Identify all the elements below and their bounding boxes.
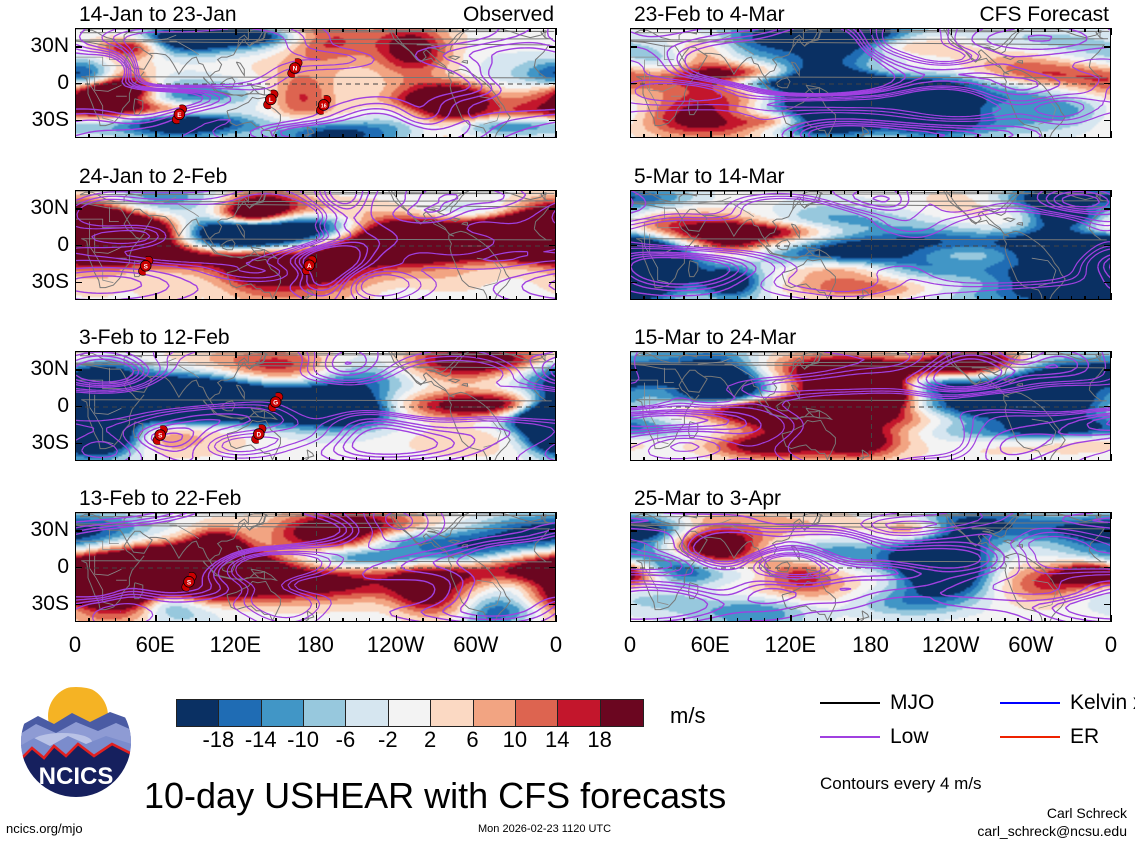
x-tick bbox=[262, 296, 263, 300]
x-tick bbox=[88, 190, 89, 194]
x-tick bbox=[409, 134, 410, 138]
x-tick bbox=[871, 615, 872, 622]
x-tick bbox=[911, 296, 912, 300]
x-tick bbox=[235, 293, 236, 300]
x-tick bbox=[643, 457, 644, 461]
x-tick bbox=[1058, 512, 1059, 516]
x-tick bbox=[777, 296, 778, 300]
x-tick bbox=[182, 190, 183, 194]
storm-label: N bbox=[293, 66, 298, 73]
x-tick bbox=[516, 296, 517, 300]
x-tick bbox=[516, 618, 517, 622]
x-tick bbox=[302, 457, 303, 461]
x-tick bbox=[128, 190, 129, 194]
x-tick bbox=[1058, 351, 1059, 355]
y-tick bbox=[1104, 83, 1111, 84]
x-tick bbox=[630, 615, 631, 622]
x-tick bbox=[924, 296, 925, 300]
map-overlay bbox=[631, 513, 1111, 622]
x-tick bbox=[844, 190, 845, 194]
map-plot-area bbox=[630, 512, 1111, 622]
x-tick bbox=[462, 457, 463, 461]
x-tick bbox=[764, 28, 765, 32]
tropical-cyclone-marker: N bbox=[288, 59, 302, 78]
x-tick bbox=[556, 351, 557, 358]
x-tick bbox=[750, 28, 751, 32]
x-tick bbox=[209, 28, 210, 32]
x-tick bbox=[275, 618, 276, 622]
y-tick bbox=[1104, 369, 1111, 370]
x-tick bbox=[436, 457, 437, 461]
x-tick bbox=[476, 454, 477, 461]
x-tick bbox=[790, 454, 791, 461]
x-tick bbox=[516, 134, 517, 138]
x-tick bbox=[884, 190, 885, 194]
x-tick bbox=[342, 512, 343, 516]
site-url[interactable]: ncics.org/mjo bbox=[6, 822, 83, 835]
x-tick bbox=[697, 190, 698, 194]
x-tick bbox=[556, 512, 557, 519]
x-tick bbox=[369, 28, 370, 32]
x-tick bbox=[436, 296, 437, 300]
y-tick bbox=[630, 406, 637, 407]
legend-item-kelvin-x2: Kelvin x2 bbox=[1000, 692, 1135, 713]
y-tick bbox=[1104, 282, 1111, 283]
x-tick bbox=[630, 512, 631, 519]
contour-low bbox=[236, 513, 413, 618]
x-tick bbox=[195, 134, 196, 138]
x-tick bbox=[409, 457, 410, 461]
y-tick bbox=[1104, 406, 1111, 407]
x-tick bbox=[275, 296, 276, 300]
x-tick bbox=[302, 134, 303, 138]
x-axis-label: 120W bbox=[916, 634, 986, 656]
x-tick bbox=[543, 618, 544, 622]
x-tick bbox=[670, 134, 671, 138]
y-tick bbox=[630, 443, 637, 444]
x-tick bbox=[1098, 351, 1099, 355]
x-tick bbox=[844, 296, 845, 300]
x-tick bbox=[516, 457, 517, 461]
x-tick bbox=[924, 134, 925, 138]
x-tick bbox=[670, 351, 671, 355]
x-tick bbox=[503, 28, 504, 32]
y-tick bbox=[549, 282, 556, 283]
x-tick bbox=[462, 351, 463, 355]
x-tick bbox=[302, 512, 303, 516]
tropical-cyclone-marker: S bbox=[139, 256, 153, 275]
x-tick bbox=[222, 28, 223, 32]
x-tick bbox=[1071, 190, 1072, 194]
x-tick bbox=[369, 134, 370, 138]
y-tick bbox=[630, 120, 637, 121]
x-tick bbox=[556, 131, 557, 138]
x-tick bbox=[1044, 28, 1045, 32]
x-tick bbox=[235, 190, 236, 197]
x-tick bbox=[1084, 134, 1085, 138]
x-tick bbox=[155, 351, 156, 358]
x-tick bbox=[436, 512, 437, 516]
x-tick bbox=[128, 296, 129, 300]
x-tick bbox=[884, 28, 885, 32]
x-tick bbox=[737, 457, 738, 461]
map-overlay bbox=[631, 352, 1111, 461]
x-tick bbox=[737, 28, 738, 32]
x-tick bbox=[182, 134, 183, 138]
x-tick bbox=[476, 131, 477, 138]
colorbar-segment bbox=[304, 700, 346, 726]
x-tick bbox=[857, 28, 858, 32]
x-tick bbox=[356, 351, 357, 355]
x-tick bbox=[142, 134, 143, 138]
y-axis-label: 0 bbox=[57, 556, 69, 577]
x-tick bbox=[195, 190, 196, 194]
x-tick bbox=[1084, 296, 1085, 300]
colorbar-segment bbox=[601, 700, 643, 726]
storm-label: E bbox=[177, 112, 182, 119]
x-tick bbox=[817, 618, 818, 622]
x-tick bbox=[75, 190, 76, 197]
x-tick bbox=[476, 512, 477, 519]
x-tick bbox=[169, 457, 170, 461]
x-tick bbox=[804, 457, 805, 461]
colorbar-segment bbox=[389, 700, 431, 726]
x-tick bbox=[670, 296, 671, 300]
x-tick bbox=[951, 28, 952, 35]
colorbar-segment bbox=[346, 700, 388, 726]
colorbar-segment bbox=[474, 700, 516, 726]
x-tick bbox=[683, 134, 684, 138]
x-tick bbox=[102, 190, 103, 194]
y-tick bbox=[75, 208, 82, 209]
y-tick bbox=[75, 282, 82, 283]
x-tick bbox=[182, 351, 183, 355]
x-tick bbox=[476, 351, 477, 358]
x-tick bbox=[235, 512, 236, 519]
x-tick bbox=[911, 351, 912, 355]
x-tick bbox=[169, 351, 170, 355]
legend-line-swatch bbox=[820, 736, 880, 738]
x-tick bbox=[1071, 296, 1072, 300]
x-tick bbox=[128, 618, 129, 622]
storm-label: S bbox=[187, 579, 192, 586]
x-tick bbox=[396, 615, 397, 622]
x-tick bbox=[670, 618, 671, 622]
x-tick bbox=[817, 296, 818, 300]
panel-title: 5-Mar to 14-Mar bbox=[634, 166, 785, 187]
author-email[interactable]: carl_schreck@ncsu.edu bbox=[977, 824, 1127, 838]
x-tick bbox=[871, 512, 872, 519]
x-tick bbox=[529, 190, 530, 194]
x-tick bbox=[462, 618, 463, 622]
x-tick bbox=[543, 512, 544, 516]
x-axis-label: 120E bbox=[755, 634, 825, 656]
x-tick bbox=[209, 512, 210, 516]
x-tick bbox=[529, 512, 530, 516]
x-tick bbox=[937, 134, 938, 138]
x-tick bbox=[529, 618, 530, 622]
x-tick bbox=[937, 457, 938, 461]
x-tick bbox=[697, 457, 698, 461]
x-tick bbox=[643, 134, 644, 138]
x-tick bbox=[503, 618, 504, 622]
y-tick bbox=[75, 604, 82, 605]
storm-label: S bbox=[158, 433, 163, 440]
x-tick bbox=[289, 512, 290, 516]
x-tick bbox=[422, 134, 423, 138]
x-tick bbox=[302, 190, 303, 194]
x-tick bbox=[764, 512, 765, 516]
x-tick bbox=[804, 190, 805, 194]
x-tick bbox=[1004, 512, 1005, 516]
x-tick bbox=[88, 457, 89, 461]
x-tick bbox=[462, 512, 463, 516]
x-tick bbox=[737, 351, 738, 355]
x-tick bbox=[657, 512, 658, 516]
x-tick bbox=[102, 134, 103, 138]
x-tick bbox=[884, 296, 885, 300]
storm-label: 16 bbox=[321, 104, 327, 110]
x-tick bbox=[871, 454, 872, 461]
x-tick bbox=[844, 351, 845, 355]
y-tick bbox=[75, 567, 82, 568]
x-tick bbox=[790, 293, 791, 300]
x-tick bbox=[1017, 190, 1018, 194]
x-tick bbox=[1084, 28, 1085, 32]
x-tick bbox=[897, 296, 898, 300]
y-tick bbox=[549, 208, 556, 209]
x-tick bbox=[1031, 454, 1032, 461]
x-tick bbox=[235, 454, 236, 461]
panel-title: 15-Mar to 24-Mar bbox=[634, 327, 796, 348]
x-tick bbox=[750, 351, 751, 355]
x-tick bbox=[1111, 293, 1112, 300]
x-tick bbox=[235, 615, 236, 622]
x-tick bbox=[169, 134, 170, 138]
y-axis-label: 30N bbox=[30, 358, 69, 379]
x-tick bbox=[115, 351, 116, 355]
x-tick bbox=[342, 618, 343, 622]
x-tick bbox=[302, 296, 303, 300]
tropical-cyclone-marker: D bbox=[252, 425, 266, 444]
map-overlay bbox=[631, 29, 1111, 138]
x-tick bbox=[1071, 134, 1072, 138]
x-tick bbox=[951, 190, 952, 197]
x-tick bbox=[697, 134, 698, 138]
x-tick bbox=[503, 190, 504, 194]
x-tick bbox=[710, 512, 711, 519]
x-tick bbox=[830, 457, 831, 461]
x-tick bbox=[249, 512, 250, 516]
x-tick bbox=[543, 296, 544, 300]
x-tick bbox=[951, 454, 952, 461]
x-tick bbox=[209, 351, 210, 355]
x-tick bbox=[897, 457, 898, 461]
x-tick bbox=[422, 28, 423, 32]
x-tick bbox=[643, 618, 644, 622]
x-axis-label: 0 bbox=[40, 634, 110, 656]
x-tick bbox=[857, 618, 858, 622]
x-tick bbox=[1031, 351, 1032, 358]
x-tick bbox=[356, 618, 357, 622]
x-tick bbox=[1004, 190, 1005, 194]
x-tick bbox=[1111, 512, 1112, 519]
x-tick bbox=[884, 618, 885, 622]
x-tick bbox=[262, 190, 263, 194]
legend-line-swatch bbox=[1000, 736, 1060, 738]
x-tick bbox=[924, 457, 925, 461]
x-tick bbox=[964, 190, 965, 194]
y-axis-label: 30N bbox=[30, 35, 69, 56]
tropical-cyclone-marker: S bbox=[182, 572, 196, 591]
x-tick bbox=[1084, 351, 1085, 355]
x-tick bbox=[830, 351, 831, 355]
x-tick bbox=[777, 134, 778, 138]
y-tick bbox=[630, 83, 637, 84]
column-header: CFS Forecast bbox=[979, 4, 1109, 25]
x-tick bbox=[977, 134, 978, 138]
x-tick bbox=[342, 134, 343, 138]
x-tick bbox=[911, 28, 912, 32]
x-tick bbox=[342, 351, 343, 355]
x-tick bbox=[857, 351, 858, 355]
x-tick bbox=[1084, 190, 1085, 194]
x-tick bbox=[924, 28, 925, 32]
x-tick bbox=[516, 351, 517, 355]
x-tick bbox=[396, 512, 397, 519]
colorbar-segment bbox=[516, 700, 558, 726]
x-tick bbox=[489, 351, 490, 355]
x-tick bbox=[737, 296, 738, 300]
x-tick bbox=[1031, 615, 1032, 622]
x-tick bbox=[1044, 351, 1045, 355]
x-tick bbox=[724, 351, 725, 355]
x-tick bbox=[630, 293, 631, 300]
contour-low bbox=[113, 29, 356, 87]
x-tick bbox=[857, 296, 858, 300]
x-tick bbox=[88, 296, 89, 300]
x-tick bbox=[222, 351, 223, 355]
x-tick bbox=[356, 28, 357, 32]
y-axis-label: 30N bbox=[30, 519, 69, 540]
x-tick bbox=[1058, 134, 1059, 138]
x-tick bbox=[1017, 618, 1018, 622]
x-tick bbox=[1017, 457, 1018, 461]
x-tick bbox=[356, 190, 357, 194]
x-tick bbox=[857, 190, 858, 194]
x-tick bbox=[777, 457, 778, 461]
x-axis-label: 60E bbox=[675, 634, 745, 656]
y-tick bbox=[1104, 530, 1111, 531]
x-tick bbox=[382, 134, 383, 138]
x-tick bbox=[356, 134, 357, 138]
x-tick bbox=[142, 618, 143, 622]
x-tick bbox=[1098, 296, 1099, 300]
x-tick bbox=[489, 512, 490, 516]
x-tick bbox=[884, 351, 885, 355]
x-tick bbox=[382, 296, 383, 300]
x-tick bbox=[937, 190, 938, 194]
x-tick bbox=[102, 28, 103, 32]
x-tick bbox=[1084, 457, 1085, 461]
y-tick bbox=[75, 406, 82, 407]
x-tick bbox=[657, 134, 658, 138]
x-tick bbox=[857, 457, 858, 461]
x-tick bbox=[817, 457, 818, 461]
x-tick bbox=[790, 512, 791, 519]
x-tick bbox=[724, 457, 725, 461]
x-tick bbox=[764, 190, 765, 194]
x-tick bbox=[951, 131, 952, 138]
x-tick bbox=[262, 28, 263, 32]
x-tick bbox=[750, 618, 751, 622]
panel-title: 24-Jan to 2-Feb bbox=[79, 166, 227, 187]
x-tick bbox=[128, 28, 129, 32]
x-tick bbox=[871, 131, 872, 138]
y-tick bbox=[549, 120, 556, 121]
x-axis-label: 60W bbox=[441, 634, 511, 656]
x-tick bbox=[964, 134, 965, 138]
x-tick bbox=[302, 28, 303, 32]
x-tick bbox=[222, 457, 223, 461]
x-tick bbox=[235, 351, 236, 358]
x-tick bbox=[1084, 512, 1085, 516]
x-tick bbox=[155, 615, 156, 622]
x-tick bbox=[142, 28, 143, 32]
map-plot-area: SDG bbox=[75, 351, 556, 461]
x-tick bbox=[382, 28, 383, 32]
x-tick bbox=[937, 512, 938, 516]
legend-label: ER bbox=[1070, 726, 1099, 747]
x-tick bbox=[222, 512, 223, 516]
panel-title: 23-Feb to 4-Mar bbox=[634, 4, 785, 25]
x-tick bbox=[670, 512, 671, 516]
x-tick bbox=[329, 351, 330, 355]
x-tick bbox=[790, 190, 791, 197]
x-tick bbox=[142, 296, 143, 300]
x-tick bbox=[884, 457, 885, 461]
panel-title: 13-Feb to 22-Feb bbox=[79, 488, 241, 509]
x-tick bbox=[1017, 28, 1018, 32]
x-tick bbox=[462, 190, 463, 194]
x-tick bbox=[476, 615, 477, 622]
x-tick bbox=[369, 457, 370, 461]
x-tick bbox=[804, 512, 805, 516]
x-tick bbox=[396, 351, 397, 358]
x-tick bbox=[262, 134, 263, 138]
x-tick bbox=[1004, 457, 1005, 461]
x-tick bbox=[422, 618, 423, 622]
x-tick bbox=[924, 351, 925, 355]
x-tick bbox=[977, 512, 978, 516]
x-tick bbox=[884, 134, 885, 138]
x-tick bbox=[316, 293, 317, 300]
x-tick bbox=[462, 134, 463, 138]
x-tick bbox=[871, 190, 872, 197]
x-tick bbox=[75, 131, 76, 138]
x-tick bbox=[991, 134, 992, 138]
x-tick bbox=[155, 293, 156, 300]
x-tick bbox=[182, 512, 183, 516]
x-tick bbox=[1111, 615, 1112, 622]
x-tick bbox=[503, 351, 504, 355]
x-tick bbox=[830, 134, 831, 138]
y-tick bbox=[75, 443, 82, 444]
x-axis-label: 0 bbox=[521, 634, 591, 656]
x-tick bbox=[382, 618, 383, 622]
x-tick bbox=[222, 618, 223, 622]
x-tick bbox=[102, 351, 103, 355]
